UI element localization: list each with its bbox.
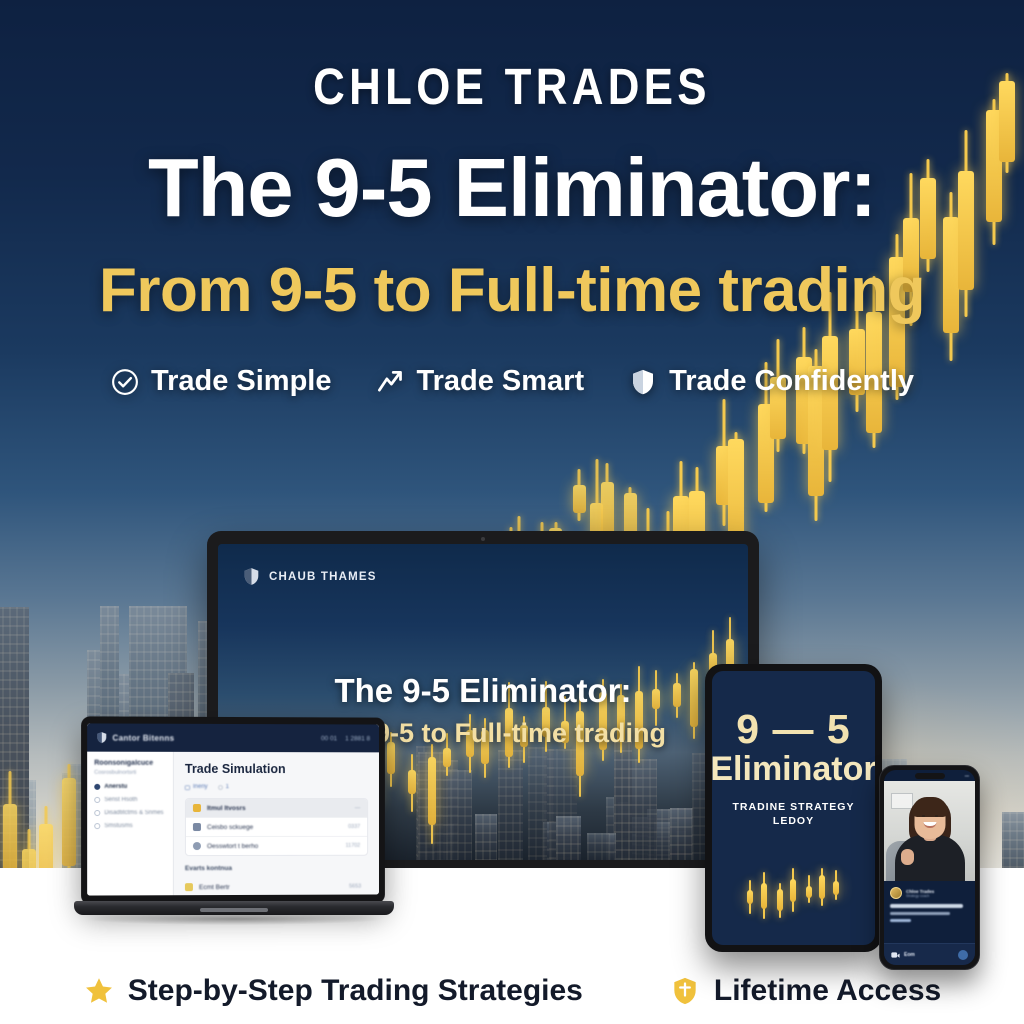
clock-icon bbox=[218, 784, 223, 789]
phone-content-panel: Chloe Trades Strategy coach bbox=[884, 881, 975, 922]
tablet-device: 9 — 5 Eliminator TRADINE STRATEGY LEDOY bbox=[705, 664, 882, 952]
dashboard-tab-label: 1 bbox=[226, 784, 229, 790]
sidebar-title: Roonsonigalcuce bbox=[94, 760, 166, 767]
candlestick bbox=[408, 754, 416, 812]
phone-bottom-label: Eom bbox=[904, 952, 915, 958]
shield-icon bbox=[628, 367, 658, 397]
tablet-subtitle: TRADINE STRATEGY LEDOY bbox=[733, 800, 855, 829]
phone-video-thumbnail[interactable] bbox=[884, 781, 975, 881]
laptop-screen-logo: CHAUB THAMES bbox=[243, 567, 377, 586]
laptop-screen-logo-text: CHAUB THAMES bbox=[269, 571, 377, 583]
dashboard-status-meta: 00 01 1 2881 8 bbox=[321, 735, 370, 742]
feature-badge-trade-smart: Trade Smart bbox=[375, 365, 584, 398]
row-label: Itmul Itvosrs bbox=[207, 804, 349, 811]
benefit-label: Lifetime Access bbox=[714, 974, 941, 1008]
benefit-lifetime-access: Lifetime Access bbox=[669, 974, 941, 1008]
dashboard-status-left: 00 01 bbox=[321, 735, 337, 742]
dashboard-body: Roonsonigalcuce Cosrosbulnortsrti Anerst… bbox=[87, 752, 379, 896]
sidebar-item-label: Senst Hsoth bbox=[104, 797, 137, 803]
row-value: 11702 bbox=[345, 843, 360, 849]
phone-bottom-bar[interactable]: Eom bbox=[884, 943, 975, 965]
hand bbox=[901, 849, 914, 865]
check-circle-icon bbox=[110, 367, 140, 397]
laptop-camera bbox=[481, 537, 485, 541]
dashboard-sidebar: Roonsonigalcuce Cosrosbulnortsrti Anerst… bbox=[87, 752, 174, 896]
benefit-step-by-step: Step-by-Step Trading Strategies bbox=[83, 974, 583, 1008]
candlestick bbox=[573, 469, 586, 521]
dashboard-section-heading: Evarts kontnua bbox=[185, 865, 368, 872]
clock-icon bbox=[193, 842, 201, 850]
avatar bbox=[890, 887, 902, 899]
hero-subheadline: From 9-5 to Full-time trading bbox=[0, 255, 1024, 326]
phone-frame: ••• bbox=[879, 765, 980, 970]
feature-badge-trade-simple: Trade Simple bbox=[110, 365, 332, 398]
tablet-candlestick-graphic bbox=[744, 853, 844, 917]
table-row[interactable]: Ceisbo sckuege 0337 bbox=[186, 818, 367, 837]
candlestick bbox=[790, 868, 796, 912]
dashboard-tab-1[interactable]: 1 bbox=[218, 784, 229, 790]
phone-status-text: ••• bbox=[965, 773, 969, 778]
row-value: — bbox=[355, 805, 360, 811]
tablet-title-line1: 9 — 5 bbox=[736, 709, 850, 750]
caption-line-1 bbox=[890, 904, 963, 908]
dashboard-tabs: Ineriy 1 bbox=[185, 784, 368, 790]
candlestick bbox=[777, 883, 783, 919]
sidebar-item-3[interactable]: Smstusms bbox=[94, 823, 166, 829]
dashboard-tab-0[interactable]: Ineriy bbox=[185, 784, 208, 790]
sidebar-item-icon bbox=[94, 797, 100, 803]
dashboard-tab-label: Ineriy bbox=[193, 784, 208, 790]
row-label: Ceisbo sckuege bbox=[207, 823, 342, 830]
phone-device: ••• bbox=[879, 765, 980, 970]
shield-icon bbox=[193, 823, 201, 831]
trading-dashboard: Cantor Bitenns 00 01 1 2881 8 Roonsoniga… bbox=[87, 723, 379, 895]
candlestick bbox=[833, 870, 839, 901]
eye-left bbox=[922, 815, 925, 817]
candlestick bbox=[428, 744, 436, 844]
dashboard-brand: Cantor Bitenns bbox=[96, 732, 174, 744]
sidebar-item-label: Smstusms bbox=[104, 823, 132, 829]
sidebar-item-label: Anerstu bbox=[104, 784, 127, 790]
tablet-subtitle-line2: LEDOY bbox=[773, 815, 814, 827]
phone-bottom-left[interactable]: Eom bbox=[891, 951, 915, 959]
bottom-benefits-row: Step-by-Step Trading Strategies Lifetime… bbox=[0, 974, 1024, 1008]
row-label: Oesswtort t berho bbox=[207, 842, 340, 849]
row-label: Ecmt Bertr bbox=[199, 883, 343, 890]
macbook-lid: Cantor Bitenns 00 01 1 2881 8 Roonsoniga… bbox=[81, 716, 385, 904]
feature-badge-trade-confidently: Trade Confidently bbox=[628, 365, 914, 398]
promo-graphic: CHLOE TRADES The 9-5 Eliminator: From 9-… bbox=[0, 0, 1024, 1024]
laptop-screen-title: The 9-5 Eliminator: bbox=[218, 672, 748, 710]
calendar-icon bbox=[185, 784, 190, 789]
sidebar-item-0[interactable]: Anerstu bbox=[94, 784, 166, 790]
hero-headline: The 9-5 Eliminator: bbox=[0, 140, 1024, 236]
sidebar-item-label: Disadtitctms & Snmes bbox=[104, 810, 163, 816]
tablet-title-line2: Eliminator bbox=[712, 752, 875, 788]
feature-label: Trade Smart bbox=[416, 365, 584, 398]
dashboard-main: Trade Simulation Ineriy bbox=[174, 752, 379, 896]
star-icon bbox=[83, 975, 115, 1007]
dashboard-list-card: Itmul Itvosrs — Ceisbo sckuege 0337 bbox=[185, 798, 368, 856]
sidebar-item-2[interactable]: Disadtitctms & Snmes bbox=[94, 810, 166, 816]
record-icon[interactable] bbox=[958, 950, 968, 960]
sidebar-subtitle: Cosrosbulnortsrti bbox=[94, 770, 166, 776]
dashboard-heading: Trade Simulation bbox=[185, 762, 368, 776]
author-subtitle: Strategy coach bbox=[906, 894, 934, 898]
caption-line-3 bbox=[890, 919, 911, 922]
candlestick bbox=[747, 880, 753, 915]
brand-name: CHLOE TRADES bbox=[72, 57, 953, 116]
phone-screen: ••• bbox=[884, 770, 975, 965]
chart-icon bbox=[193, 804, 201, 812]
shield-icon bbox=[96, 732, 107, 744]
table-row[interactable]: Itmul Itvosrs — bbox=[186, 799, 367, 818]
dashboard-brand-text: Cantor Bitenns bbox=[112, 733, 174, 742]
shield-icon bbox=[243, 567, 260, 586]
phone-author-row: Chloe Trades Strategy coach bbox=[890, 887, 969, 899]
presenter-figure bbox=[894, 795, 966, 881]
table-row[interactable]: Oesswtort t berho 11702 bbox=[186, 837, 367, 855]
macbook-shadow bbox=[88, 913, 380, 925]
tablet-frame: 9 — 5 Eliminator TRADINE STRATEGY LEDOY bbox=[705, 664, 882, 952]
row-value: 0337 bbox=[348, 824, 360, 830]
candlestick bbox=[761, 872, 767, 918]
table-row[interactable]: Ecmt Bertr 5653 bbox=[185, 878, 368, 896]
camera-icon bbox=[891, 951, 900, 959]
shield-check-icon bbox=[669, 975, 701, 1007]
tablet-screen: 9 — 5 Eliminator TRADINE STRATEGY LEDOY bbox=[712, 671, 875, 945]
macbook-screen: Cantor Bitenns 00 01 1 2881 8 Roonsoniga… bbox=[87, 723, 379, 895]
sidebar-item-icon bbox=[94, 810, 100, 816]
tablet-subtitle-line1: TRADINE STRATEGY bbox=[733, 801, 855, 813]
dashboard-topbar: Cantor Bitenns 00 01 1 2881 8 bbox=[87, 723, 379, 752]
dashboard-status-right: 1 2881 8 bbox=[345, 735, 370, 742]
caption-line-2 bbox=[890, 912, 950, 915]
feature-label: Trade Confidently bbox=[669, 365, 914, 398]
hair-top bbox=[912, 797, 948, 817]
benefit-label: Step-by-Step Trading Strategies bbox=[128, 974, 583, 1008]
eye-right bbox=[935, 815, 938, 817]
macbook-device: Cantor Bitenns 00 01 1 2881 8 Roonsoniga… bbox=[74, 717, 394, 932]
trending-up-icon bbox=[375, 367, 405, 397]
candlestick bbox=[819, 868, 825, 906]
feature-badges: Trade Simple Trade Smart Trade Confident… bbox=[0, 365, 1024, 398]
row-value: 5653 bbox=[349, 884, 361, 890]
sidebar-item-icon bbox=[94, 784, 100, 790]
sidebar-item-1[interactable]: Senst Hsoth bbox=[94, 797, 166, 803]
feature-label: Trade Simple bbox=[151, 365, 332, 398]
candlestick bbox=[806, 875, 812, 904]
bolt-icon bbox=[185, 883, 193, 891]
sidebar-item-icon bbox=[94, 823, 100, 829]
phone-notch bbox=[915, 773, 945, 779]
